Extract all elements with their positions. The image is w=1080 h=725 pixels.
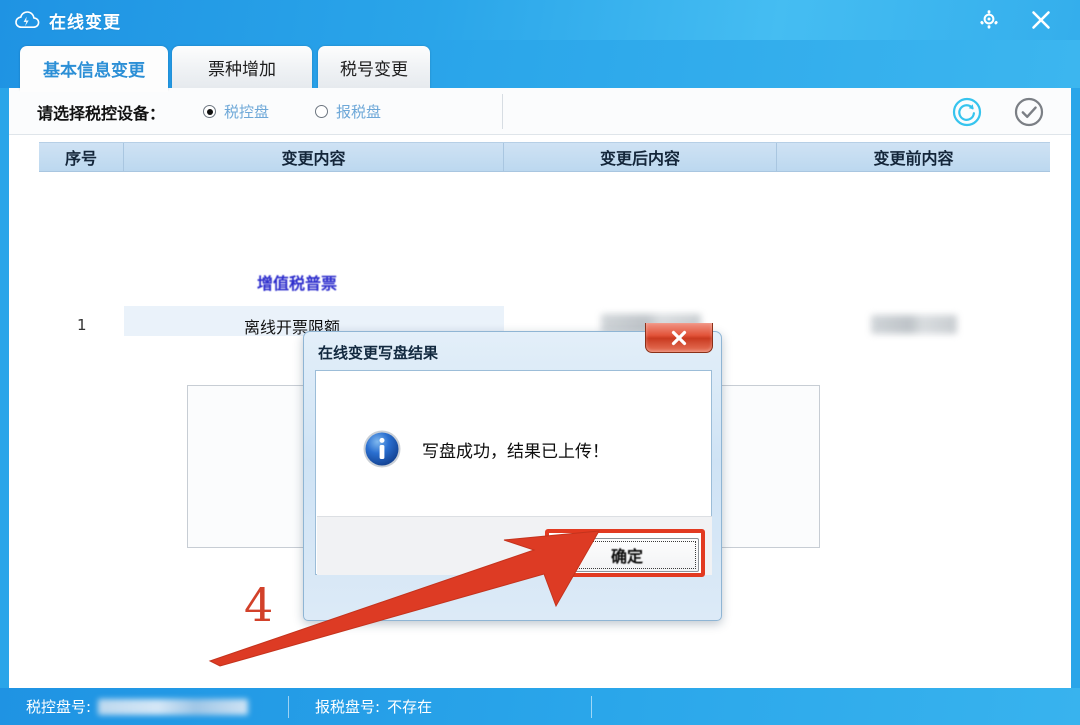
tab-label: 基本信息变更 xyxy=(43,56,145,81)
title-bar-controls xyxy=(976,7,1080,33)
dialog-title: 在线变更写盘结果 xyxy=(318,342,438,363)
status-value-redacted xyxy=(98,699,248,715)
toolbar-icons xyxy=(951,96,1045,128)
status-label: 报税盘号: xyxy=(315,696,380,717)
device-radio-group: 税控盘 报税盘 xyxy=(203,101,381,122)
application-window: 在线变更 基本信息变更 xyxy=(0,0,1080,725)
write-result-dialog: 在线变更写盘结果 xyxy=(303,331,722,621)
radio-mark xyxy=(315,105,328,118)
page-title: 在线变更 xyxy=(49,8,121,33)
dialog-footer: 确定 xyxy=(317,516,712,575)
dialog-body: 写盘成功，结果已上传！ 确定 xyxy=(315,370,712,575)
status-label: 税控盘号: xyxy=(26,696,91,717)
ok-button-label: 确定 xyxy=(611,543,643,567)
vertical-divider xyxy=(502,94,503,129)
tab-tax-number-change[interactable]: 税号变更 xyxy=(318,46,430,88)
column-header-before-change: 变更前内容 xyxy=(777,143,1050,171)
table-header-row: 序号 变更内容 变更后内容 变更前内容 xyxy=(39,142,1050,172)
status-tax-report-disk: 报税盘号: 不存在 xyxy=(289,688,591,725)
dialog-message-row: 写盘成功，结果已上传！ xyxy=(362,429,609,469)
device-selection-label: 请选择税控设备： xyxy=(37,100,165,124)
status-bar: 税控盘号: 报税盘号: 不存在 xyxy=(0,688,1080,725)
device-selection-row: 请选择税控设备： 税控盘 报税盘 xyxy=(9,88,1071,135)
radio-tax-control-disk[interactable]: 税控盘 xyxy=(203,101,269,122)
radio-label: 报税盘 xyxy=(336,101,381,122)
title-bar: 在线变更 xyxy=(0,0,1080,40)
dialog-message: 写盘成功，结果已上传！ xyxy=(422,437,609,462)
tab-basic-info-change[interactable]: 基本信息变更 xyxy=(20,46,168,90)
info-icon xyxy=(362,429,402,469)
column-header-change-content: 变更内容 xyxy=(124,143,504,171)
radio-mark xyxy=(203,105,216,118)
tab-label: 票种增加 xyxy=(208,55,276,80)
title-bar-brand: 在线变更 xyxy=(0,8,121,33)
table-row-before-value-redacted xyxy=(871,315,957,334)
step-number-annotation: 4 xyxy=(244,578,273,632)
tab-invoice-type-add[interactable]: 票种增加 xyxy=(172,46,312,88)
cloud-icon xyxy=(14,10,40,30)
radio-tax-report-disk[interactable]: 报税盘 xyxy=(315,101,381,122)
ok-button-highlight: 确定 xyxy=(545,529,705,577)
check-circle-icon[interactable] xyxy=(1013,96,1045,128)
close-icon[interactable] xyxy=(1028,7,1054,33)
close-icon[interactable] xyxy=(645,323,713,353)
tab-label: 税号变更 xyxy=(340,55,408,80)
column-header-after-change: 变更后内容 xyxy=(504,143,777,171)
divider xyxy=(9,134,1071,135)
table-row-seq: 1 xyxy=(77,316,87,334)
tab-strip: 基本信息变更 票种增加 税号变更 xyxy=(0,40,1080,88)
status-value: 不存在 xyxy=(387,696,432,717)
radio-label: 税控盘 xyxy=(224,101,269,122)
refresh-circle-icon[interactable] xyxy=(951,96,983,128)
status-spare xyxy=(592,688,892,725)
gear-icon[interactable] xyxy=(976,7,1002,33)
column-header-seq: 序号 xyxy=(39,143,124,171)
table-group-title: 增值税普票 xyxy=(257,270,337,294)
status-tax-control-disk: 税控盘号: xyxy=(0,688,288,725)
content-area: 请选择税控设备： 税控盘 报税盘 xyxy=(9,88,1071,688)
ok-button[interactable]: 确定 xyxy=(555,538,699,572)
